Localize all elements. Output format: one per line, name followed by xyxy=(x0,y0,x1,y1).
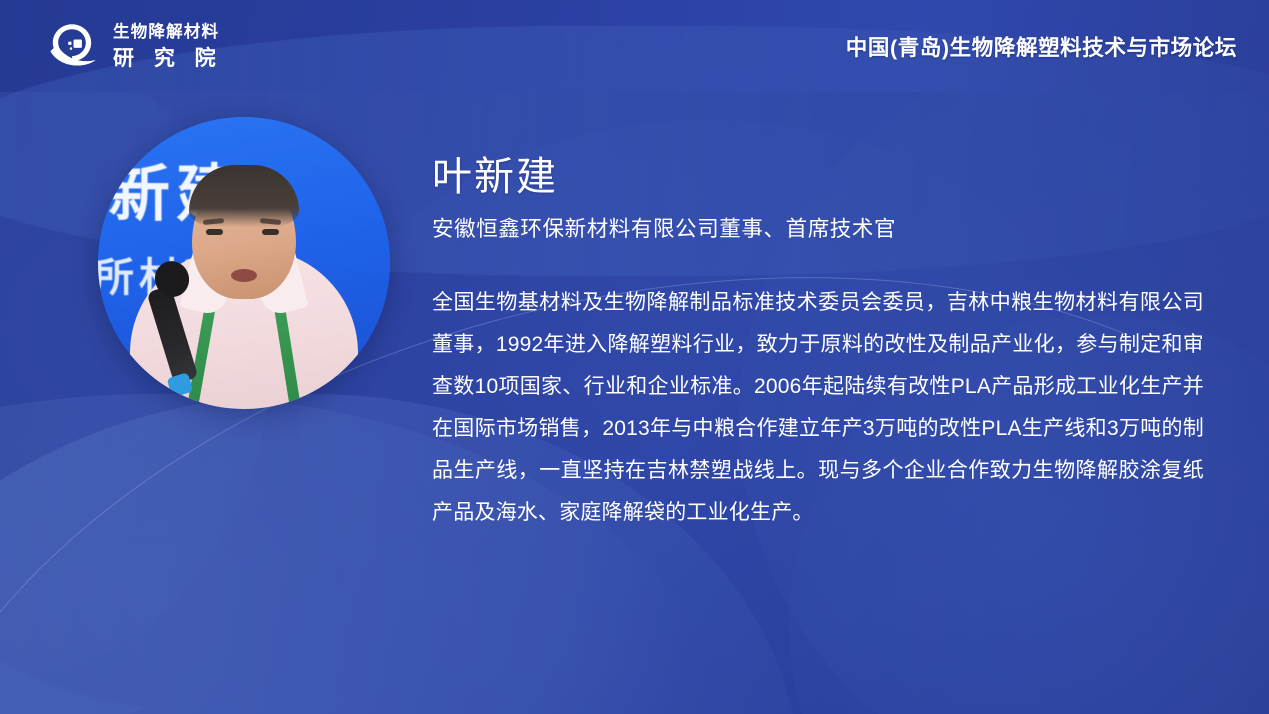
brand-line-1: 生物降解材料 xyxy=(113,24,223,41)
forum-title: 中国(青岛)生物降解塑料技术与市场论坛 xyxy=(846,31,1237,62)
speaker-bio: 全国生物基材料及生物降解制品标准技术委员会委员，吉林中粮生物材料有限公司董事，1… xyxy=(432,282,1204,534)
brand-lockup: 生物降解材料 研 究 院 xyxy=(44,20,223,72)
brand-line-2: 研 究 院 xyxy=(113,48,223,69)
photo-person-eye-left xyxy=(206,229,223,235)
slide-header: 生物降解材料 研 究 院 中国(青岛)生物降解塑料技术与市场论坛 xyxy=(0,0,1269,92)
speaker-info-panel: 叶新建 安徽恒鑫环保新材料有限公司董事、首席技术官 全国生物基材料及生物降解制品… xyxy=(432,154,1212,534)
speaker-profile-slide: 生物降解材料 研 究 院 中国(青岛)生物降解塑料技术与市场论坛 新建 所材料 xyxy=(0,0,1269,714)
speaker-photo-wrapper: 新建 所材料 xyxy=(98,117,390,409)
speaker-name: 叶新建 xyxy=(432,154,1212,200)
photo-person-mouth xyxy=(231,269,257,282)
photo-person-eye-right xyxy=(262,229,279,235)
speaker-photo: 新建 所材料 xyxy=(98,117,390,409)
brand-text: 生物降解材料 研 究 院 xyxy=(113,23,223,69)
speaker-role: 安徽恒鑫环保新材料有限公司董事、首席技术官 xyxy=(432,216,1212,244)
slide-body: 新建 所材料 叶新建 安徽恒鑫环保新 xyxy=(0,92,1269,714)
circular-leaf-logo-icon xyxy=(44,20,100,72)
